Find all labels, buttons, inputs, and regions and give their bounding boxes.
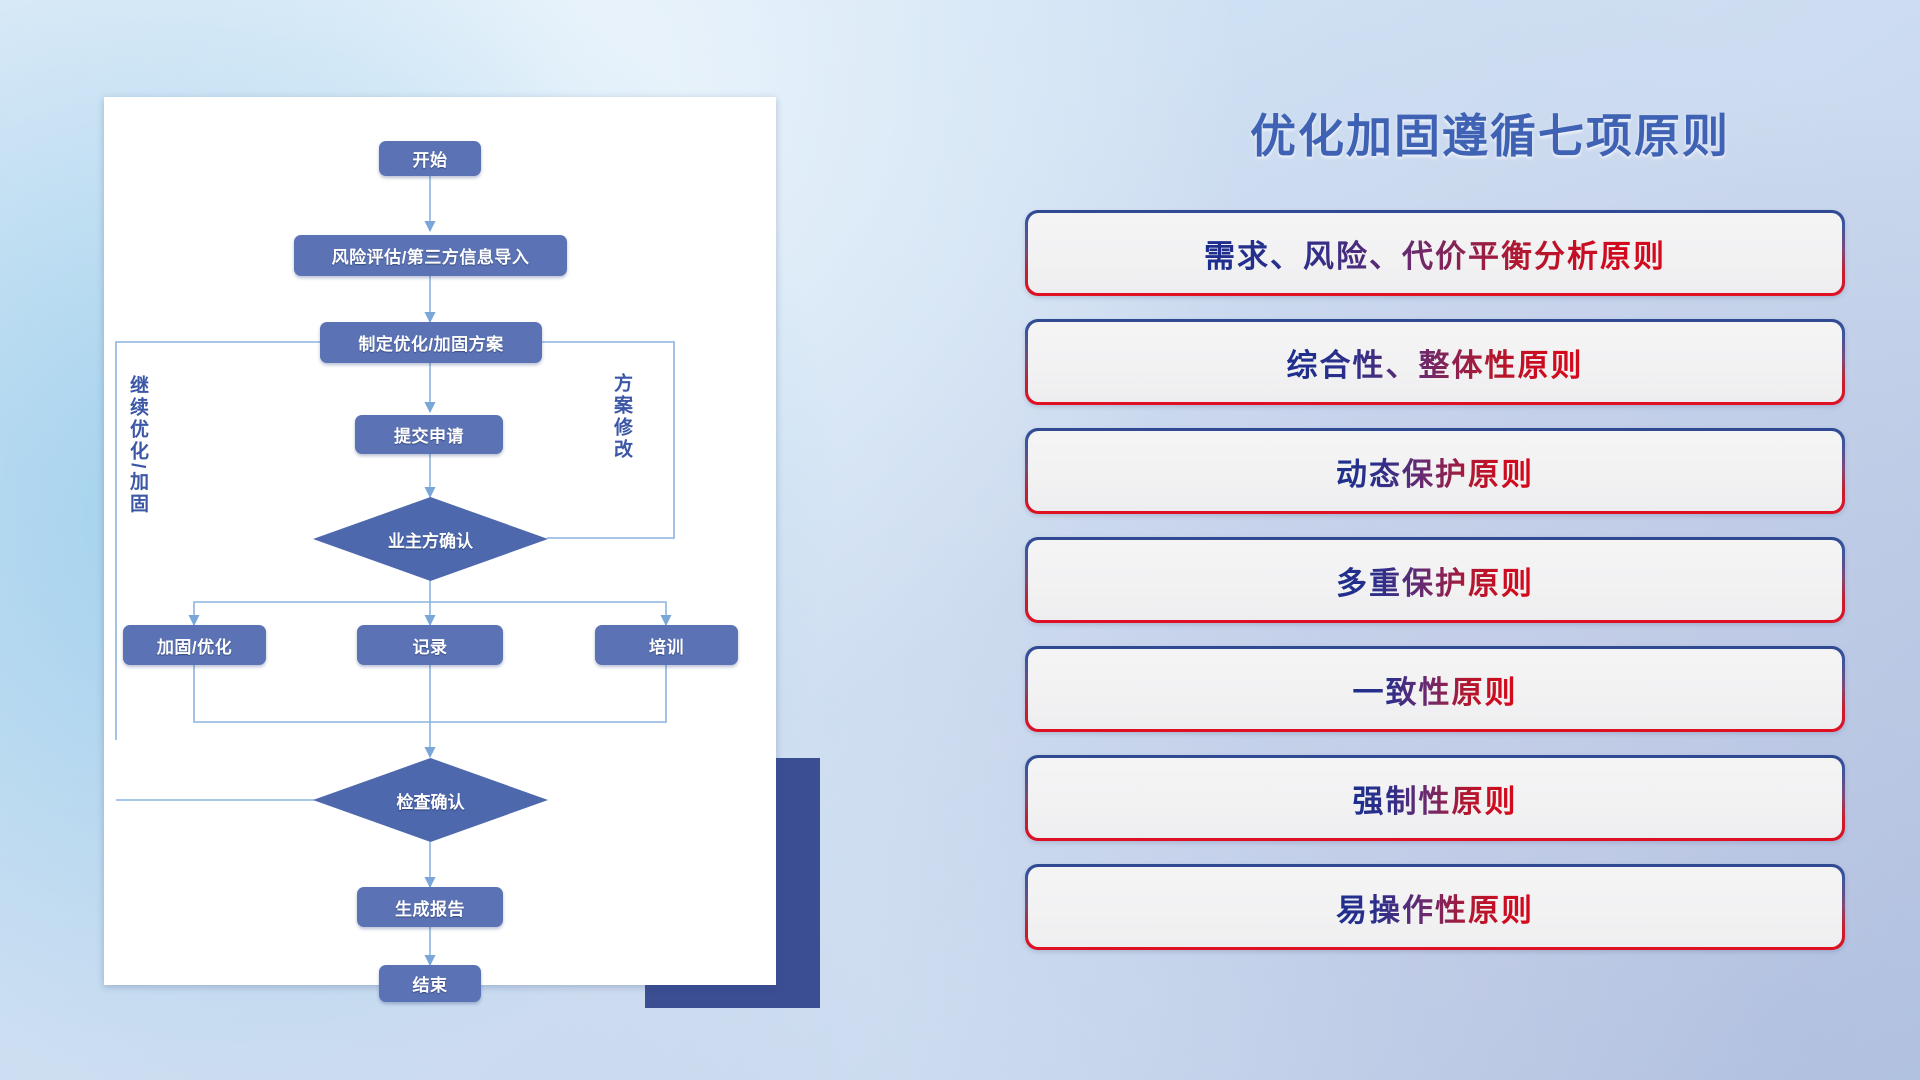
flow-node-make-plan-label: 制定优化/加固方案: [358, 330, 503, 355]
principle-item-body: 多重保护原则: [1028, 540, 1843, 621]
principle-item[interactable]: 动态保护原则: [1025, 428, 1845, 514]
flow-node-reinforce-optimize-label: 加固/优化: [157, 633, 232, 658]
principle-item-label: 多重保护原则: [1336, 558, 1534, 603]
principle-item-body: 一致性原则: [1028, 649, 1843, 730]
principle-item-body: 需求、风险、代价平衡分析原则: [1028, 213, 1843, 294]
flow-node-training[interactable]: 培训: [595, 625, 738, 665]
flow-edge-label-right-loop: 方案修改: [612, 373, 631, 461]
principle-item-label: 易操作性原则: [1336, 885, 1534, 930]
principle-item-body: 易操作性原则: [1028, 867, 1843, 948]
principle-item[interactable]: 强制性原则: [1025, 755, 1845, 841]
flow-node-submit-application-label: 提交申请: [394, 422, 464, 447]
flow-node-reinforce-optimize[interactable]: 加固/优化: [123, 625, 266, 665]
flow-node-make-plan[interactable]: 制定优化/加固方案: [320, 322, 542, 363]
flow-node-risk-assessment[interactable]: 风险评估/第三方信息导入: [294, 235, 567, 276]
flow-node-end-label: 结束: [413, 971, 448, 996]
flow-node-training-label: 培训: [649, 633, 684, 658]
flow-node-risk-assessment-label: 风险评估/第三方信息导入: [332, 243, 530, 268]
flow-edge-label-left-loop: 继续优化/加固: [128, 375, 147, 515]
principle-item-body: 动态保护原则: [1028, 431, 1843, 512]
flow-node-record[interactable]: 记录: [357, 625, 503, 665]
flow-node-end[interactable]: 结束: [379, 965, 481, 1002]
flow-node-record-label: 记录: [413, 633, 448, 658]
flow-node-generate-report[interactable]: 生成报告: [357, 887, 503, 927]
flow-node-start[interactable]: 开始: [379, 141, 481, 176]
flow-node-generate-report-label: 生成报告: [395, 895, 465, 920]
principle-item-body: 强制性原则: [1028, 758, 1843, 839]
principle-item[interactable]: 多重保护原则: [1025, 537, 1845, 623]
principle-item-body: 综合性、整体性原则: [1028, 322, 1843, 403]
flow-node-owner-confirm-label: 业主方确认: [388, 527, 473, 552]
principle-item-label: 综合性、整体性原则: [1287, 340, 1584, 385]
flow-node-start-label: 开始: [413, 146, 448, 171]
principle-item-label: 一致性原则: [1353, 667, 1518, 712]
principle-item[interactable]: 综合性、整体性原则: [1025, 319, 1845, 405]
flowchart-card: 开始 风险评估/第三方信息导入 制定优化/加固方案 提交申请 业主方确认 加固/…: [104, 97, 776, 985]
flow-node-submit-application[interactable]: 提交申请: [355, 415, 503, 454]
principle-item[interactable]: 一致性原则: [1025, 646, 1845, 732]
principle-item-label: 动态保护原则: [1336, 449, 1534, 494]
flow-node-check-confirm-label: 检查确认: [397, 788, 465, 813]
principle-item-label: 需求、风险、代价平衡分析原则: [1204, 231, 1666, 276]
panel-title: 优化加固遵循七项原则: [1020, 100, 1850, 166]
principle-item[interactable]: 需求、风险、代价平衡分析原则: [1025, 210, 1845, 296]
principle-item-label: 强制性原则: [1353, 776, 1518, 821]
principles-panel: 优化加固遵循七项原则 需求、风险、代价平衡分析原则 综合性、整体性原则 动态保护…: [1020, 100, 1850, 950]
principle-list: 需求、风险、代价平衡分析原则 综合性、整体性原则 动态保护原则 多重保护原则 一…: [1020, 210, 1850, 950]
principle-item[interactable]: 易操作性原则: [1025, 864, 1845, 950]
